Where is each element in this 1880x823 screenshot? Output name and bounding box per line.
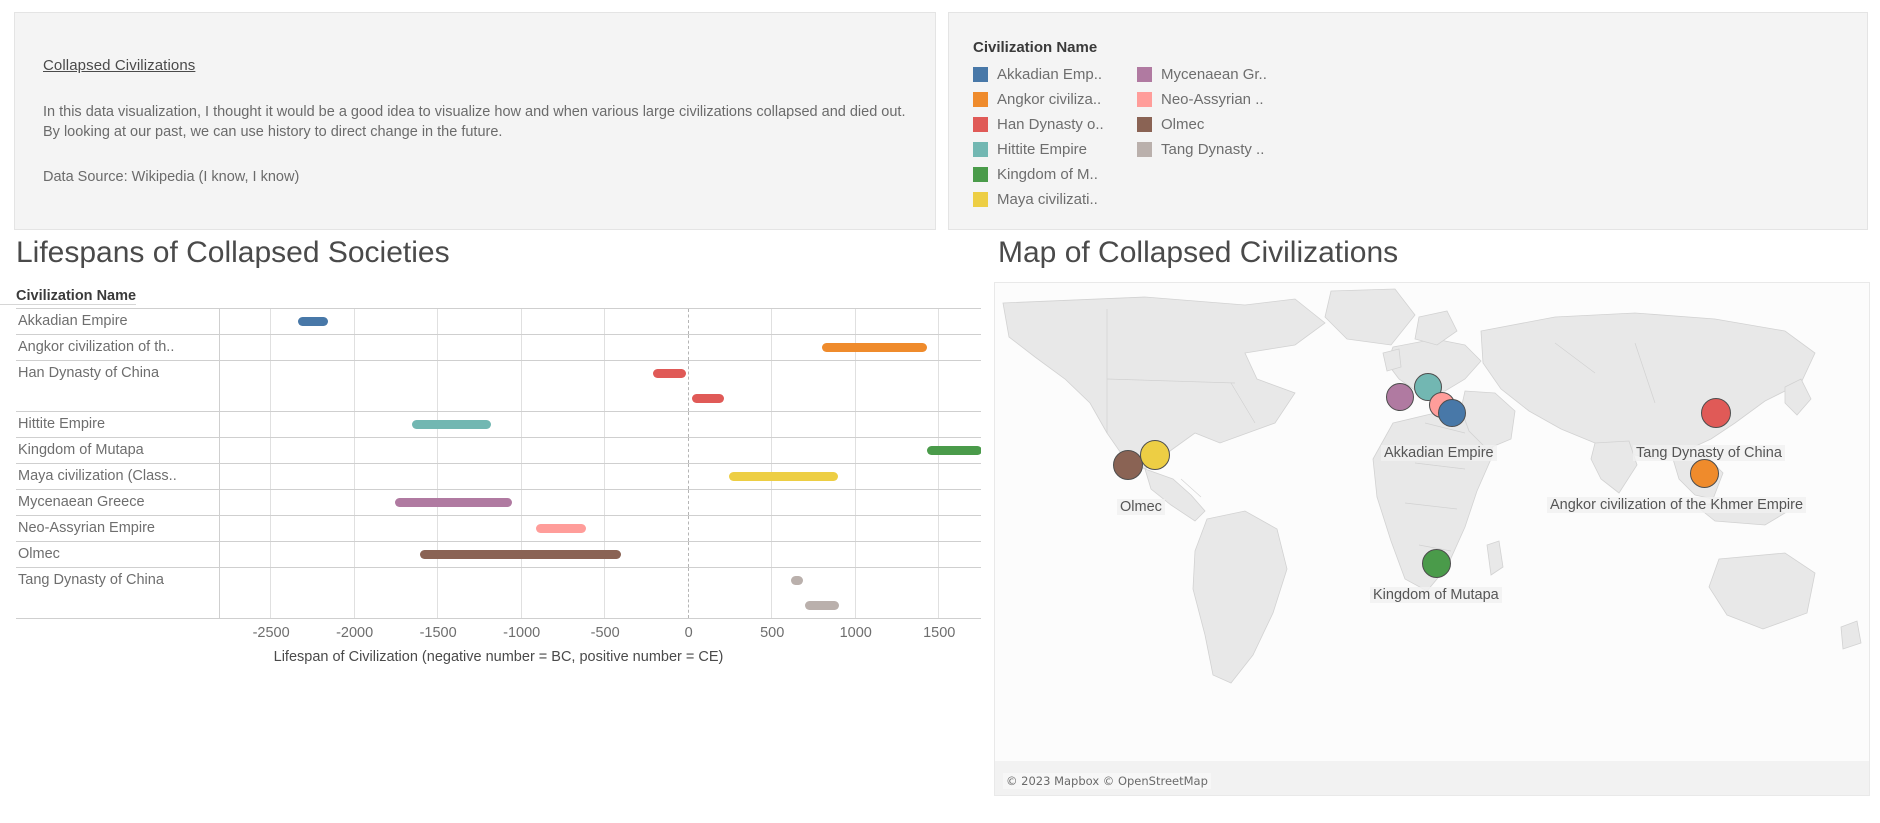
gantt-row-label: Han Dynasty of China bbox=[16, 361, 220, 411]
legend-swatch-icon bbox=[973, 167, 988, 182]
gridline bbox=[771, 490, 772, 515]
map-marker-label: Akkadian Empire bbox=[1381, 445, 1497, 461]
gridline bbox=[354, 361, 355, 411]
legend-item-b-0[interactable]: Mycenaean Gr.. bbox=[1137, 62, 1267, 87]
gantt-bar[interactable] bbox=[395, 498, 512, 507]
gridline bbox=[604, 464, 605, 489]
gridline bbox=[771, 412, 772, 437]
gridline bbox=[771, 568, 772, 618]
zero-gridline bbox=[688, 361, 689, 411]
gridline bbox=[938, 516, 939, 541]
legend-item-b-2[interactable]: Olmec bbox=[1137, 112, 1267, 137]
legend-swatch-icon bbox=[973, 92, 988, 107]
x-axis-tick-label: 0 bbox=[685, 625, 693, 641]
gridline bbox=[855, 464, 856, 489]
legend-item-a-2[interactable]: Han Dynasty o.. bbox=[973, 112, 1127, 137]
gantt-row[interactable]: Tang Dynasty of China bbox=[16, 568, 981, 619]
gridline bbox=[771, 516, 772, 541]
map-marker-label: Angkor civilization of the Khmer Empire bbox=[1547, 497, 1806, 513]
legend-item-a-4[interactable]: Kingdom of M.. bbox=[973, 162, 1127, 187]
legend-swatch-icon bbox=[1137, 142, 1152, 157]
legend-item-label: Maya civilizati.. bbox=[997, 191, 1127, 208]
legend-item-a-5[interactable]: Maya civilizati.. bbox=[973, 187, 1127, 212]
gantt-bar[interactable] bbox=[791, 576, 803, 585]
legend-item-label: Olmec bbox=[1161, 116, 1204, 133]
gridline bbox=[521, 412, 522, 437]
gridline bbox=[771, 361, 772, 411]
zero-gridline bbox=[688, 335, 689, 360]
zero-gridline bbox=[688, 490, 689, 515]
gantt-row[interactable]: Kingdom of Mutapa bbox=[16, 438, 981, 464]
gridline bbox=[771, 309, 772, 334]
gridline bbox=[771, 335, 772, 360]
legend-swatch-icon bbox=[1137, 117, 1152, 132]
gridline bbox=[521, 438, 522, 463]
map-title: Map of Collapsed Civilizations bbox=[990, 238, 1880, 268]
gantt-row-label: Maya civilization (Class.. bbox=[16, 464, 220, 489]
gantt-row-plot bbox=[220, 438, 981, 463]
gridline bbox=[437, 361, 438, 411]
map-marker[interactable] bbox=[1422, 549, 1451, 578]
gantt-row-plot bbox=[220, 568, 981, 618]
legend-item-label: Tang Dynasty .. bbox=[1161, 141, 1264, 158]
gridline bbox=[270, 568, 271, 618]
map-marker-label: Kingdom of Mutapa bbox=[1370, 587, 1502, 603]
zero-gridline bbox=[688, 542, 689, 567]
legend-item-label: Akkadian Emp.. bbox=[997, 66, 1127, 83]
gridline bbox=[521, 335, 522, 360]
map-marker[interactable] bbox=[1438, 399, 1466, 427]
gantt-row-plot bbox=[220, 361, 981, 411]
gridline bbox=[938, 542, 939, 567]
zero-gridline bbox=[688, 412, 689, 437]
gantt-row-plot bbox=[220, 542, 981, 567]
map-marker[interactable] bbox=[1701, 398, 1731, 428]
legend-swatch-icon bbox=[973, 67, 988, 82]
map-marker[interactable] bbox=[1386, 383, 1414, 411]
legend-item-label: Neo-Assyrian .. bbox=[1161, 91, 1264, 108]
gridline bbox=[938, 464, 939, 489]
gridline bbox=[938, 309, 939, 334]
gridline bbox=[521, 516, 522, 541]
gridline bbox=[855, 490, 856, 515]
gridline bbox=[270, 309, 271, 334]
gridline bbox=[521, 309, 522, 334]
map-panel: Map of Collapsed Civilizations bbox=[990, 238, 1880, 818]
gridline bbox=[604, 361, 605, 411]
gridline bbox=[437, 464, 438, 489]
legend-item-label: Angkor civiliza.. bbox=[997, 91, 1127, 108]
gridline bbox=[604, 309, 605, 334]
gridline bbox=[938, 568, 939, 618]
gridline bbox=[354, 438, 355, 463]
gridline bbox=[604, 516, 605, 541]
x-axis-tick-label: -1000 bbox=[503, 625, 540, 641]
gridline bbox=[270, 335, 271, 360]
gantt-title: Lifespans of Collapsed Societies bbox=[0, 238, 990, 268]
x-axis-tick-label: 1000 bbox=[840, 625, 872, 641]
gridline bbox=[855, 412, 856, 437]
gridline bbox=[354, 516, 355, 541]
gridline bbox=[437, 309, 438, 334]
legend-item-b-1[interactable]: Neo-Assyrian .. bbox=[1137, 87, 1267, 112]
gantt-row-label: Akkadian Empire bbox=[16, 309, 220, 334]
gantt-bar[interactable] bbox=[420, 550, 620, 559]
gantt-row[interactable]: Han Dynasty of China bbox=[16, 361, 981, 412]
legend-title: Civilization Name bbox=[973, 39, 1867, 56]
gridline bbox=[354, 309, 355, 334]
legend-item-label: Mycenaean Gr.. bbox=[1161, 66, 1267, 83]
gantt-row-label: Kingdom of Mutapa bbox=[16, 438, 220, 463]
map-marker[interactable] bbox=[1140, 440, 1170, 470]
gridline bbox=[938, 412, 939, 437]
gridline bbox=[270, 412, 271, 437]
legend-swatch-icon bbox=[973, 192, 988, 207]
zero-gridline bbox=[688, 464, 689, 489]
gantt-bar[interactable] bbox=[805, 601, 839, 610]
gantt-row[interactable]: Mycenaean Greece bbox=[16, 490, 981, 516]
gridline bbox=[855, 516, 856, 541]
gridline bbox=[521, 464, 522, 489]
map-marker[interactable] bbox=[1113, 450, 1143, 480]
intro-data-source: Data Source: Wikipedia (I know, I know) bbox=[43, 169, 907, 185]
gantt-row-plot bbox=[220, 516, 981, 541]
gantt-row-label: Hittite Empire bbox=[16, 412, 220, 437]
intro-title: Collapsed Civilizations bbox=[43, 57, 195, 74]
zero-gridline bbox=[688, 516, 689, 541]
map-marker-label: Tang Dynasty of China bbox=[1633, 445, 1785, 461]
gridline bbox=[855, 568, 856, 618]
gridline bbox=[604, 490, 605, 515]
legend-item-a-3[interactable]: Hittite Empire bbox=[973, 137, 1127, 162]
gridline bbox=[604, 438, 605, 463]
gridline bbox=[521, 361, 522, 411]
gridline bbox=[604, 335, 605, 360]
gantt-row[interactable]: Neo-Assyrian Empire bbox=[16, 516, 981, 542]
gantt-row[interactable]: Angkor civilization of th.. bbox=[16, 335, 981, 361]
gantt-row[interactable]: Olmec bbox=[16, 542, 981, 568]
gridline bbox=[270, 516, 271, 541]
legend-item-label: Hittite Empire bbox=[997, 141, 1127, 158]
gantt-bar[interactable] bbox=[653, 369, 686, 378]
legend-swatch-icon bbox=[1137, 92, 1152, 107]
zero-gridline bbox=[688, 568, 689, 618]
legend-swatch-icon bbox=[973, 142, 988, 157]
x-axis-title: Lifespan of Civilization (negative numbe… bbox=[16, 649, 981, 665]
x-axis-tick-label: -2000 bbox=[336, 625, 373, 641]
gridline bbox=[270, 490, 271, 515]
gridline bbox=[855, 438, 856, 463]
map-attribution: © 2023 Mapbox © OpenStreetMap bbox=[1003, 773, 1211, 789]
gantt-row[interactable]: Maya civilization (Class.. bbox=[16, 464, 981, 490]
gantt-row-plot bbox=[220, 309, 981, 334]
gridline bbox=[270, 361, 271, 411]
x-axis-ticks: -2500-2000-1500-1000-500050010001500 bbox=[16, 619, 981, 645]
world-map-basemap bbox=[995, 283, 1869, 795]
legend-swatch-icon bbox=[973, 117, 988, 132]
gridline bbox=[855, 361, 856, 411]
gridline bbox=[354, 542, 355, 567]
gantt-row-label: Angkor civilization of th.. bbox=[16, 335, 220, 360]
gridline bbox=[604, 568, 605, 618]
gridline bbox=[855, 309, 856, 334]
gantt-bar[interactable] bbox=[822, 343, 927, 352]
gantt-bar[interactable] bbox=[692, 394, 725, 403]
gridline bbox=[354, 464, 355, 489]
legend-column-2: Mycenaean Gr..Neo-Assyrian ..OlmecTang D… bbox=[1137, 62, 1267, 212]
legend-item-label: Kingdom of M.. bbox=[997, 166, 1127, 183]
gridline bbox=[521, 568, 522, 618]
gantt-rows: Akkadian EmpireAngkor civilization of th… bbox=[16, 308, 981, 619]
gridline bbox=[354, 568, 355, 618]
legend-swatch-icon bbox=[1137, 67, 1152, 82]
legend-item-a-1[interactable]: Angkor civiliza.. bbox=[973, 87, 1127, 112]
legend-panel: Civilization Name Akkadian Emp..Angkor c… bbox=[948, 12, 1868, 230]
gantt-row-plot bbox=[220, 464, 981, 489]
gantt-row[interactable]: Akkadian Empire bbox=[16, 309, 981, 335]
legend-column-1: Akkadian Emp..Angkor civiliza..Han Dynas… bbox=[973, 62, 1127, 212]
x-axis-tick-label: -2500 bbox=[253, 625, 290, 641]
gridline bbox=[270, 542, 271, 567]
gridline bbox=[354, 490, 355, 515]
gridline bbox=[771, 438, 772, 463]
gantt-row-plot bbox=[220, 335, 981, 360]
map-canvas[interactable]: OlmecAkkadian EmpireTang Dynasty of Chin… bbox=[994, 282, 1870, 796]
gantt-row-label: Tang Dynasty of China bbox=[16, 568, 220, 618]
map-marker[interactable] bbox=[1690, 459, 1719, 488]
gantt-row[interactable]: Hittite Empire bbox=[16, 412, 981, 438]
gridline bbox=[354, 412, 355, 437]
gantt-bar[interactable] bbox=[729, 472, 838, 481]
gridline bbox=[938, 361, 939, 411]
gridline bbox=[938, 335, 939, 360]
gantt-chart-panel: Lifespans of Collapsed Societies Civiliz… bbox=[0, 238, 990, 698]
legend-item-label: Han Dynasty o.. bbox=[997, 116, 1127, 133]
gridline bbox=[938, 490, 939, 515]
gantt-row-plot bbox=[220, 412, 981, 437]
x-axis-tick-label: 500 bbox=[760, 625, 784, 641]
zero-gridline bbox=[688, 438, 689, 463]
map-marker-label: Olmec bbox=[1117, 499, 1165, 515]
gantt-row-label: Neo-Assyrian Empire bbox=[16, 516, 220, 541]
zero-gridline bbox=[688, 309, 689, 334]
x-axis-tick-label: 1500 bbox=[923, 625, 955, 641]
gantt-row-label: Olmec bbox=[16, 542, 220, 567]
gantt-bar[interactable] bbox=[298, 317, 328, 326]
gantt-row-plot bbox=[220, 490, 981, 515]
intro-panel: Collapsed Civilizations In this data vis… bbox=[14, 12, 936, 230]
gantt-bar[interactable] bbox=[927, 446, 981, 455]
gridline bbox=[604, 412, 605, 437]
gantt-column-header: Civilization Name bbox=[0, 288, 136, 305]
x-axis-tick-label: -500 bbox=[591, 625, 620, 641]
gridline bbox=[437, 516, 438, 541]
gridline bbox=[437, 438, 438, 463]
gantt-row-label: Mycenaean Greece bbox=[16, 490, 220, 515]
gridline bbox=[855, 542, 856, 567]
legend-item-a-0[interactable]: Akkadian Emp.. bbox=[973, 62, 1127, 87]
gridline bbox=[354, 335, 355, 360]
gantt-bar[interactable] bbox=[536, 524, 586, 533]
gridline bbox=[270, 438, 271, 463]
intro-body: In this data visualization, I thought it… bbox=[43, 102, 907, 142]
x-axis-tick-label: -1500 bbox=[420, 625, 457, 641]
dashboard: Collapsed Civilizations In this data vis… bbox=[0, 0, 1880, 823]
gridline bbox=[270, 464, 271, 489]
gantt-bar[interactable] bbox=[412, 420, 491, 429]
legend-item-b-3[interactable]: Tang Dynasty .. bbox=[1137, 137, 1267, 162]
gridline bbox=[521, 490, 522, 515]
gridline bbox=[437, 335, 438, 360]
gridline bbox=[771, 542, 772, 567]
gridline bbox=[437, 568, 438, 618]
